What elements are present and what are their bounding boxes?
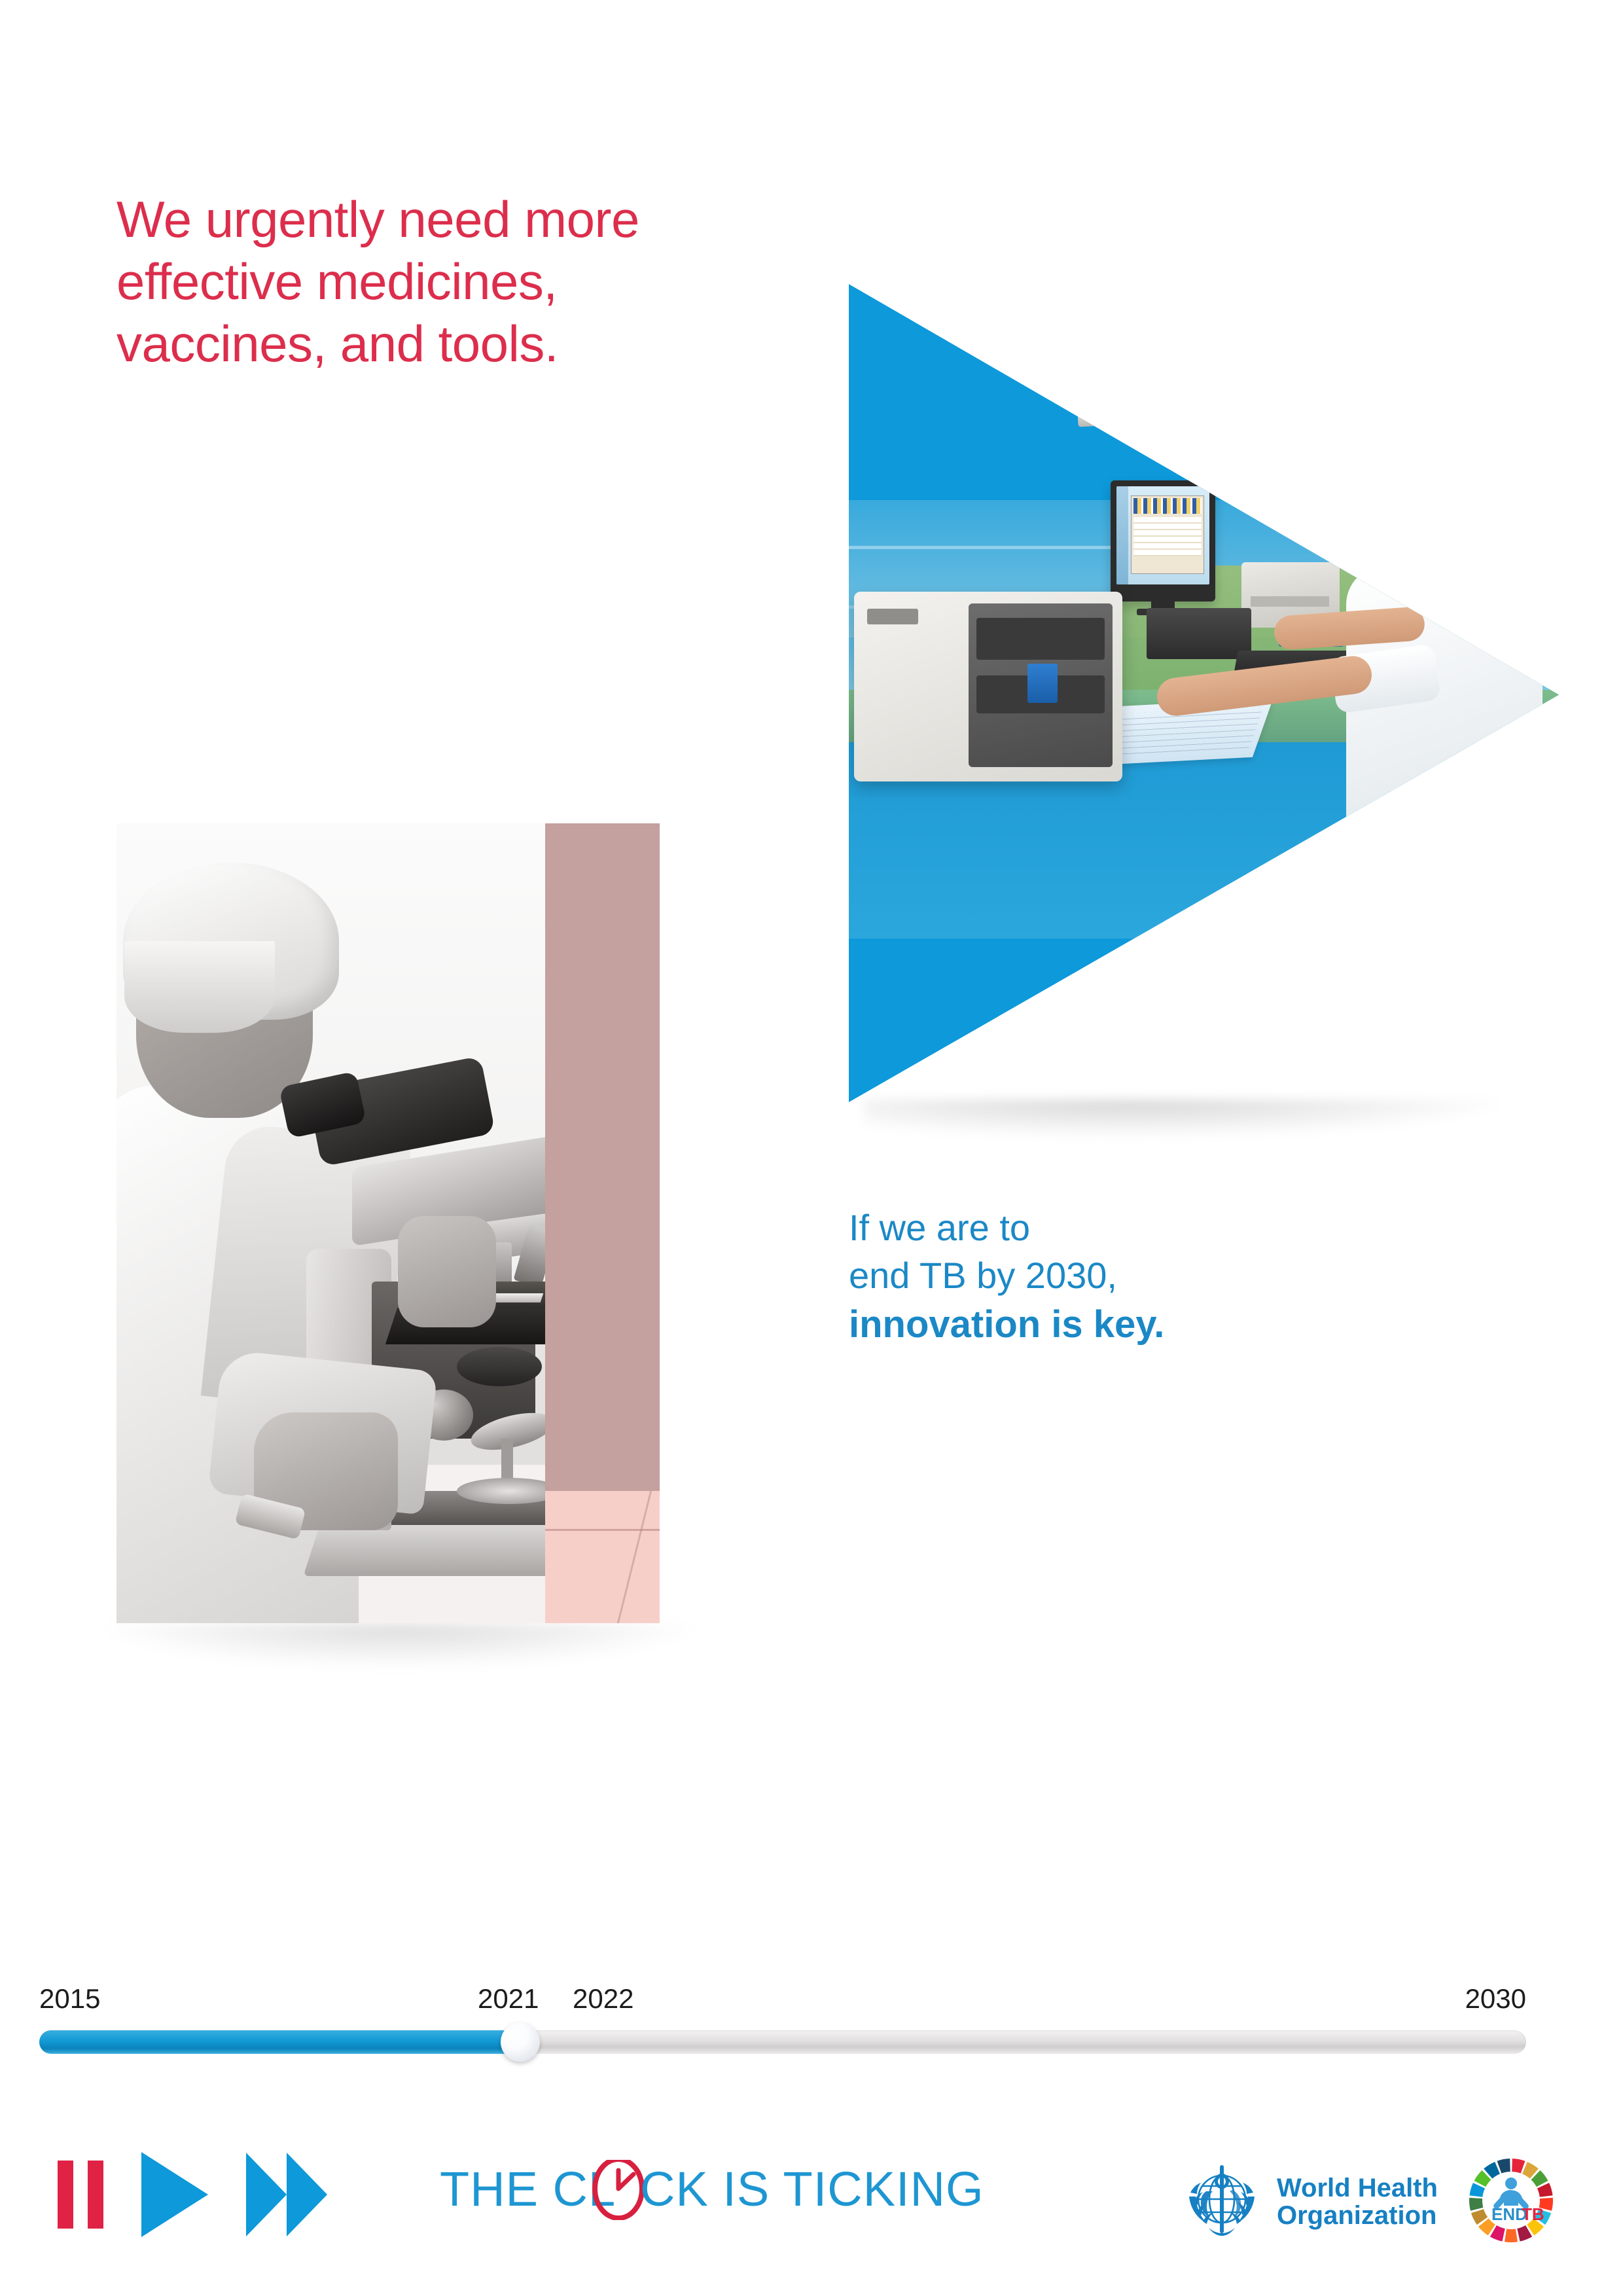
timeline-label-2022: 2022 [573,1983,633,2015]
technician-ponytail [1450,518,1499,639]
worker-hand-right [398,1216,496,1327]
microscope-condenser [457,1347,542,1386]
subheadline-line-2: end TB by 2030, [849,1252,1490,1300]
svg-text:CK IS TICKING: CK IS TICKING [640,2162,984,2216]
genexpert-machine [854,592,1122,781]
computer-monitor [1111,480,1215,601]
technician-face [1392,480,1469,572]
pause-icon[interactable] [58,2161,103,2229]
fast-forward-icon[interactable] [246,2153,327,2236]
microscope-scene [116,823,545,1623]
who-line-1: World Health [1277,2174,1438,2202]
lab-scene [849,284,1559,1102]
playback-controls [58,2152,327,2237]
technician-hair [1384,469,1480,547]
timeline-label-2021: 2021 [478,1983,539,2015]
machine-front-panel [969,603,1113,767]
timeline-labels: 2015 2021 2022 2030 [39,1983,1526,2021]
who-emblem-icon [1180,2160,1264,2244]
who-logo-text: World Health Organization [1277,2174,1438,2230]
who-line-2: Organization [1277,2202,1438,2229]
screen-window [1131,495,1204,574]
headline-line-3: vaccines, and tools. [116,313,810,375]
footer-bar: THE CL CK IS TICKING [0,2140,1623,2258]
timeline-label-2015: 2015 [39,1983,100,2015]
machine-tray [1077,407,1137,427]
lab-technician-genexpert-photo [849,284,1559,1102]
desktop-computer [1147,608,1251,659]
test-cartridge [1027,664,1058,703]
monitor-screen [1116,486,1209,584]
screen-table-rows [1133,517,1202,556]
machine-vent [867,609,918,624]
timeline-label-2030: 2030 [1465,1983,1526,2015]
page-title: We urgently need more effective medicine… [116,188,810,375]
timeline-track[interactable] [39,2030,1526,2054]
triangle-mask [849,284,1559,1102]
timeline-slider[interactable]: 2015 2021 2022 2030 [39,1983,1526,2054]
play-icon[interactable] [141,2152,208,2237]
endtb-sdg-wheel-icon: END TB [1468,2157,1554,2244]
svg-text:TB: TB [1522,2204,1544,2224]
worker-cap-back [124,941,275,1033]
headline-line-2: effective medicines, [116,251,810,313]
who-logo: World Health Organization [1180,2160,1438,2244]
subheadline-line-1: If we are to [849,1204,1490,1252]
timeline-handle[interactable] [501,2022,540,2062]
subheadline-line-3: innovation is key. [849,1300,1490,1349]
screen-taskbar [1116,486,1128,584]
screen-chart-bars [1133,498,1202,514]
endtb-logo: END TB [1468,2157,1554,2244]
subheadline: If we are to end TB by 2030, innovation … [849,1204,1490,1349]
timeline-progress-fill [39,2030,519,2054]
microscope-photo-shadow [92,1623,707,1669]
microscope-technician-photo [116,823,660,1623]
tagline-the-clock-is-ticking: THE CL CK IS TICKING [440,2160,1147,2220]
triangle-photo-shadow [864,1100,1518,1139]
svg-text:THE CL: THE CL [440,2162,616,2216]
machine-module-slot-top [976,618,1105,660]
poster-canvas: We urgently need more effective medicine… [0,0,1623,2296]
headline-line-1: We urgently need more [116,188,810,251]
